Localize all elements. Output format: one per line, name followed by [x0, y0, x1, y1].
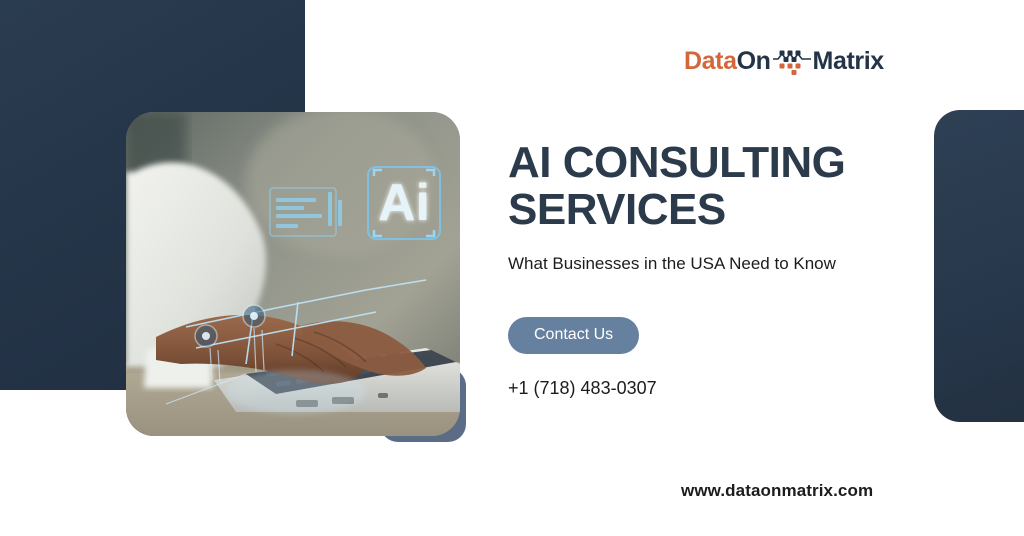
logo-text-on: On [737, 47, 771, 76]
logo-text-matrix: Matrix [813, 47, 884, 76]
hero-photo-card: Ai Ai [126, 112, 460, 436]
headline-line-1: AI CONSULTING [508, 138, 845, 187]
brand-logo[interactable]: Data On Matrix [684, 46, 884, 76]
hero-photo: Ai Ai [126, 112, 460, 436]
decorative-panel-right [934, 110, 1024, 422]
marketing-banner: Ai Ai [0, 0, 1024, 536]
phone-number[interactable]: +1 (718) 483-0307 [508, 378, 898, 399]
hero-content: AI CONSULTING SERVICES What Businesses i… [508, 140, 898, 399]
page-subtitle: What Businesses in the USA Need to Know [508, 251, 853, 277]
matrix-dots-icon [772, 46, 812, 76]
headline-line-2: SERVICES [508, 185, 726, 234]
website-url[interactable]: www.dataonmatrix.com [681, 481, 873, 501]
page-title: AI CONSULTING SERVICES [508, 140, 898, 233]
logo-text-data: Data [684, 47, 737, 76]
contact-us-button[interactable]: Contact Us [508, 317, 639, 354]
svg-text:Ai: Ai [378, 174, 430, 232]
